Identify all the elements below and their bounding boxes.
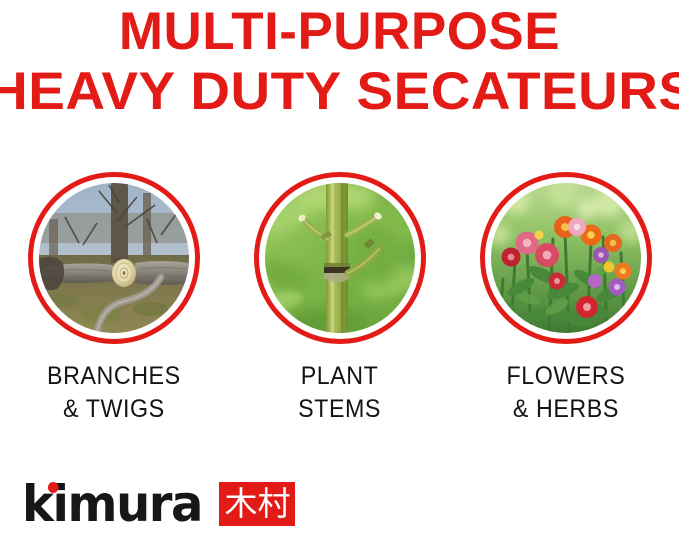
caption-flowers-line-1: FLOWERS [506, 360, 625, 393]
feature-plant-stems: PLANT STEMS [227, 172, 453, 426]
green-plant-stem-photo [265, 183, 415, 333]
logo-kanji-text: 木村 [224, 487, 290, 520]
logo-kanji-badge: 木村 [219, 482, 295, 526]
red-dot-over-i-icon [48, 482, 59, 493]
flower-bed-photo [491, 183, 641, 333]
caption-plant-stems: PLANT STEMS [298, 360, 381, 426]
headline-line-2: HEAVY DUTY SECATEURS [0, 62, 679, 122]
feature-row: BRANCHES & TWIGS [0, 172, 679, 426]
caption-flowers-line-2: & HERBS [506, 393, 625, 426]
brand-logo: kimura 木村 [22, 478, 295, 530]
circle-frame-branches [28, 172, 200, 344]
caption-plant-stems-line-2: STEMS [298, 393, 381, 426]
logo-wordmark-container: kimura [22, 478, 202, 530]
product-infographic: MULTI-PURPOSE HEAVY DUTY SECATEURS [0, 0, 679, 547]
caption-branches-line-1: BRANCHES [47, 360, 181, 393]
circle-frame-plant-stems [254, 172, 426, 344]
caption-plant-stems-line-1: PLANT [298, 360, 381, 393]
caption-branches: BRANCHES & TWIGS [47, 360, 181, 426]
caption-branches-line-2: & TWIGS [47, 393, 181, 426]
headline-block: MULTI-PURPOSE HEAVY DUTY SECATEURS [0, 0, 679, 122]
caption-flowers: FLOWERS & HERBS [506, 360, 625, 426]
cut-tree-branch-photo [39, 183, 189, 333]
feature-branches: BRANCHES & TWIGS [1, 172, 227, 426]
feature-flowers: FLOWERS & HERBS [453, 172, 679, 426]
circle-frame-flowers [480, 172, 652, 344]
headline-line-1: MULTI-PURPOSE [0, 0, 679, 62]
